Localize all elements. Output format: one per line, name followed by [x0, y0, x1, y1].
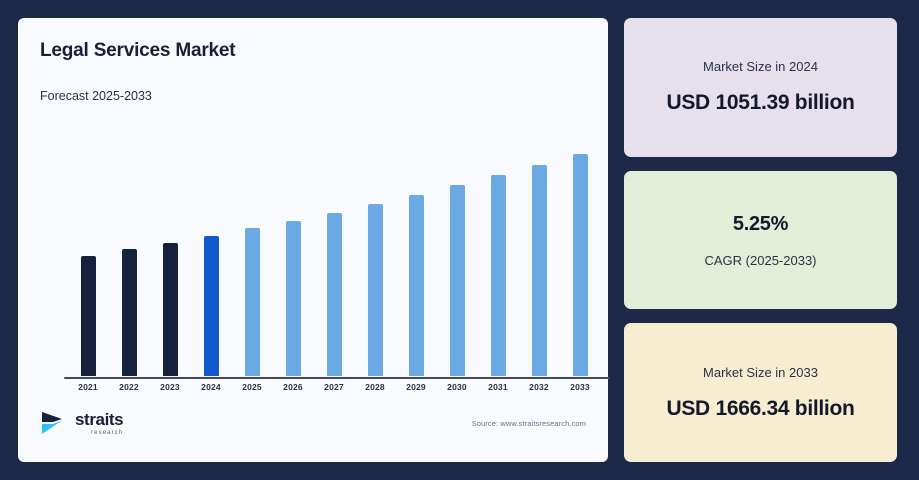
x-label-2021: 2021	[68, 382, 108, 392]
x-label-2027: 2027	[314, 382, 354, 392]
bar-slot	[232, 136, 272, 376]
stat-cards: Market Size in 2024USD 1051.39 billion5.…	[624, 18, 897, 462]
bar-slot	[560, 136, 600, 376]
bar-slot	[437, 136, 477, 376]
bar-chart-plot	[58, 136, 610, 376]
arrow-logo-icon	[40, 409, 70, 437]
logo-name: straits	[75, 411, 123, 428]
x-label-2032: 2032	[519, 382, 559, 392]
stat-card-value: USD 1666.34 billion	[666, 397, 854, 421]
stat-card-1: Market Size in 2024USD 1051.39 billion	[624, 18, 897, 157]
bar-2027	[327, 213, 342, 376]
bar-2026	[286, 221, 301, 376]
bar-slot	[150, 136, 190, 376]
x-label-2031: 2031	[478, 382, 518, 392]
bar-series	[58, 136, 610, 376]
bar-2032	[532, 165, 547, 376]
chart-panel: Legal Services Market Forecast 2025-2033…	[18, 18, 608, 462]
straits-research-logo: straits research	[40, 409, 123, 437]
bar-2033	[573, 154, 588, 376]
bar-slot	[68, 136, 108, 376]
source-attribution: Source: www.straitsresearch.com	[472, 419, 586, 428]
x-label-2029: 2029	[396, 382, 436, 392]
x-label-2026: 2026	[273, 382, 313, 392]
bar-slot	[273, 136, 313, 376]
bar-2029	[409, 195, 424, 376]
bar-slot	[355, 136, 395, 376]
stat-card-label: Market Size in 2024	[703, 59, 818, 74]
bar-slot	[396, 136, 436, 376]
infographic-page: Legal Services Market Forecast 2025-2033…	[0, 0, 919, 480]
bar-2031	[491, 175, 506, 376]
bar-2030	[450, 185, 465, 376]
bar-slot	[109, 136, 149, 376]
stat-card-value: USD 1051.39 billion	[666, 91, 854, 115]
x-label-2022: 2022	[109, 382, 149, 392]
bar-2022	[122, 249, 137, 376]
x-axis-line	[64, 377, 610, 380]
stat-card-label: Market Size in 2033	[703, 365, 818, 380]
x-label-2024: 2024	[191, 382, 231, 392]
bar-2028	[368, 204, 383, 376]
panel-footer: straits research Source: www.straitsrese…	[40, 406, 586, 440]
x-label-2023: 2023	[150, 382, 190, 392]
stat-card-value: 5.25%	[733, 213, 788, 236]
x-label-2030: 2030	[437, 382, 477, 392]
logo-text: straits research	[75, 411, 123, 436]
stat-card-2: 5.25%CAGR (2025-2033)	[624, 171, 897, 310]
x-label-2025: 2025	[232, 382, 272, 392]
bar-2024	[204, 236, 219, 376]
logo-subtitle: research	[75, 430, 123, 436]
bar-slot	[519, 136, 559, 376]
page-title: Legal Services Market	[40, 40, 586, 62]
bar-2025	[245, 228, 260, 376]
x-label-2033: 2033	[560, 382, 600, 392]
chart-subtitle: Forecast 2025-2033	[40, 89, 586, 103]
bar-2023	[163, 243, 178, 376]
stat-card-3: Market Size in 2033USD 1666.34 billion	[624, 323, 897, 462]
bar-2021	[81, 256, 96, 376]
bar-slot	[478, 136, 518, 376]
x-axis-labels: 2021202220232024202520262027202820292030…	[58, 382, 610, 392]
x-label-2028: 2028	[355, 382, 395, 392]
bar-slot	[191, 136, 231, 376]
bar-slot	[314, 136, 354, 376]
stat-card-label: CAGR (2025-2033)	[705, 253, 817, 268]
